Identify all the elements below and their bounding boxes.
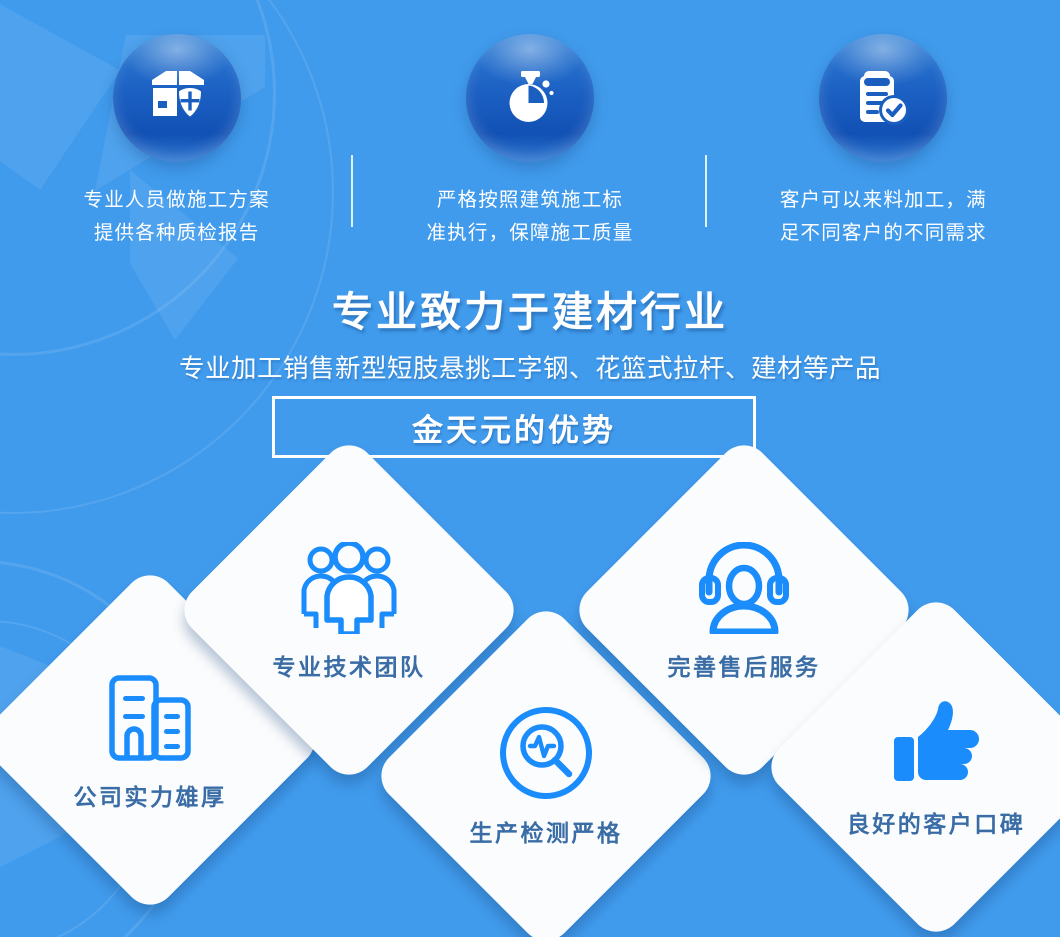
advantage-label: 完善售后服务 — [668, 648, 821, 682]
headset-support-icon — [696, 538, 792, 634]
advantage-label: 良好的客户口碑 — [847, 805, 1026, 839]
thumbs-up-icon — [890, 695, 982, 791]
team-icon — [300, 538, 398, 634]
promo-poster: 专业人员做施工方案 提供各种质检报告 严格按照建筑施工标 准执行，保障施工质量 — [0, 0, 1060, 937]
advantage-label: 公司实力雄厚 — [74, 778, 227, 812]
building-icon — [102, 668, 198, 764]
advantage-diamond-group: 公司实力雄厚 专业技术团队 — [0, 0, 1060, 937]
inspection-icon — [499, 704, 593, 800]
advantage-label: 专业技术团队 — [273, 648, 426, 682]
advantage-label: 生产检测严格 — [470, 814, 623, 848]
